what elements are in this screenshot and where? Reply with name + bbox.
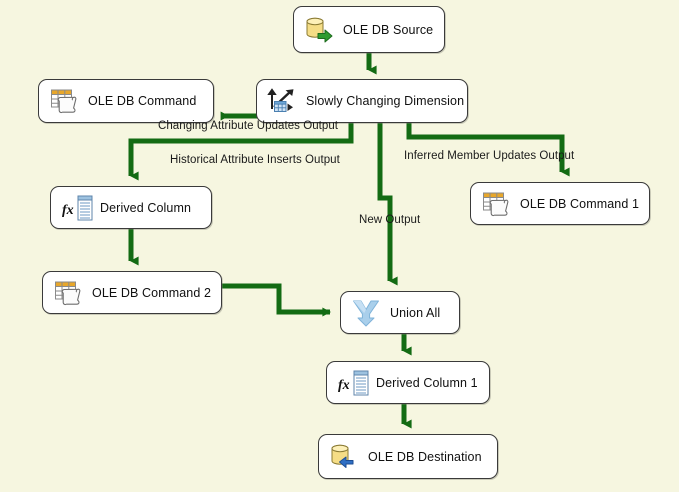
database-destination-icon [329, 442, 359, 472]
edge-label-new-output: New Output [359, 214, 420, 226]
ole-db-command-icon [49, 86, 79, 116]
wire-ole-db-command-2-to-union-all [222, 286, 330, 312]
node-label: Derived Column [100, 201, 191, 215]
node-label: OLE DB Command 2 [92, 286, 211, 300]
edge-label-historical-attribute-inserts-output: Historical Attribute Inserts Output [170, 154, 340, 166]
derived-column-icon: fx [61, 193, 91, 223]
node-label: Slowly Changing Dimension [306, 94, 464, 108]
node-label: Union All [390, 306, 440, 320]
node-ole-db-command-2[interactable]: OLE DB Command 2 [42, 271, 222, 314]
union-all-icon [351, 298, 381, 328]
wire-scd-to-union-all [380, 123, 390, 281]
node-ole-db-command[interactable]: OLE DB Command [38, 79, 214, 123]
database-source-icon [304, 15, 334, 45]
data-flow-canvas[interactable]: OLE DB Source OLE DB Command [0, 0, 679, 492]
node-label: OLE DB Command 1 [520, 197, 639, 211]
node-derived-column-1[interactable]: fx Derived Column 1 [326, 361, 490, 404]
wire-scd-to-ole-db-command-1 [409, 123, 562, 172]
node-ole-db-command-1[interactable]: OLE DB Command 1 [470, 182, 650, 225]
derived-column-icon: fx [337, 368, 367, 398]
ole-db-command-icon [481, 189, 511, 219]
node-label: Derived Column 1 [376, 376, 478, 390]
slowly-changing-dimension-icon [267, 86, 297, 116]
node-derived-column[interactable]: fx Derived Column [50, 186, 212, 229]
node-union-all[interactable]: Union All [340, 291, 460, 334]
node-label: OLE DB Source [343, 23, 433, 37]
edge-label-changing-attribute-updates-output: Changing Attribute Updates Output [158, 120, 338, 132]
svg-text:fx: fx [62, 203, 74, 218]
svg-text:fx: fx [338, 378, 350, 393]
node-label: OLE DB Command [88, 94, 196, 108]
connector-layer [0, 0, 679, 492]
node-slowly-changing-dimension[interactable]: Slowly Changing Dimension [256, 79, 468, 123]
node-ole-db-source[interactable]: OLE DB Source [293, 6, 445, 53]
ole-db-command-icon [53, 278, 83, 308]
node-ole-db-destination[interactable]: OLE DB Destination [318, 434, 498, 479]
edge-label-inferred-member-updates-output: Inferred Member Updates Output [404, 150, 574, 162]
node-label: OLE DB Destination [368, 450, 482, 464]
